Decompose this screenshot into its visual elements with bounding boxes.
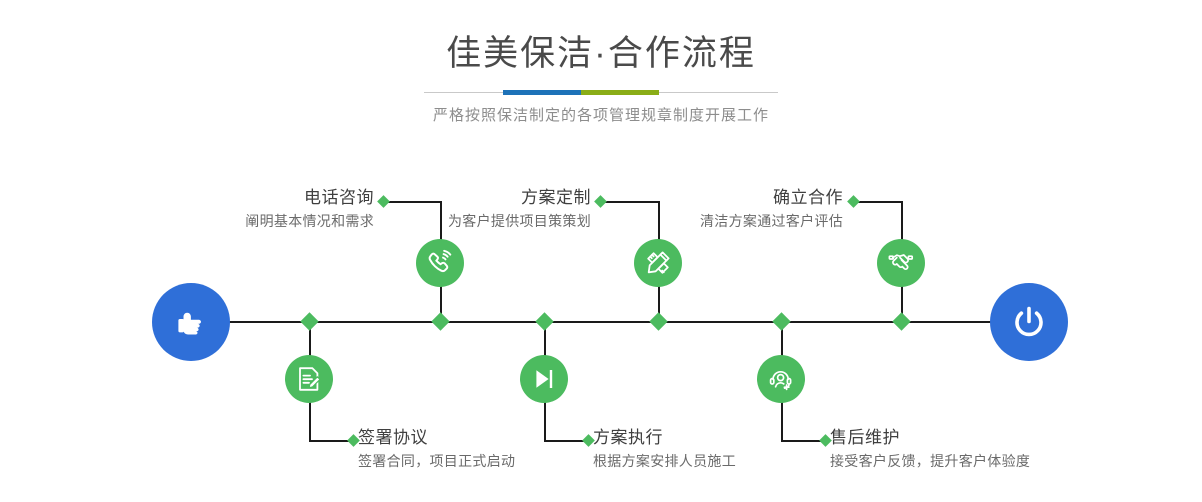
step-title-1: 电话咨询 [129, 186, 374, 210]
process-flow-infographic: 佳美保洁·合作流程 严格按照保洁制定的各项管理规章制度开展工作 [0, 0, 1202, 502]
step-icon-node-1[interactable] [416, 239, 464, 287]
step-label-5: 确立合作 清洁方案通过客户评估 [596, 186, 843, 232]
pencil-ruler-icon [644, 249, 672, 277]
document-edit-icon [295, 365, 323, 393]
step-desc-5: 清洁方案通过客户评估 [596, 210, 843, 232]
axis-marker-step-3 [649, 312, 667, 330]
timeline: 电话咨询 阐明基本情况和需求 签署协议 [0, 0, 1202, 502]
power-button-icon [1008, 301, 1050, 343]
step-desc-3: 为客户提供项目策策划 [345, 210, 591, 232]
pointing-hand-icon [171, 302, 211, 342]
step-desc-6: 接受客户反馈，提升客户体验度 [830, 450, 1130, 472]
step-icon-node-3[interactable] [634, 239, 682, 287]
timeline-end-node[interactable] [990, 283, 1068, 361]
timeline-start-node[interactable] [152, 283, 230, 361]
step-label-6: 售后维护 接受客户反馈，提升客户体验度 [830, 426, 1130, 472]
axis-marker-step-6 [772, 312, 790, 330]
step-label-3: 方案定制 为客户提供项目策策划 [345, 186, 591, 232]
label-marker-step-5 [847, 195, 860, 208]
step-title-3: 方案定制 [345, 186, 591, 210]
step-title-6: 售后维护 [830, 426, 1130, 450]
play-skip-icon [531, 366, 557, 392]
connector-horizontal-step-5 [853, 201, 902, 203]
step-icon-node-2[interactable] [285, 355, 333, 403]
step-icon-node-6[interactable] [757, 355, 805, 403]
step-icon-node-5[interactable] [877, 239, 925, 287]
axis-marker-step-1 [431, 312, 449, 330]
customer-service-add-icon [767, 365, 795, 393]
axis-marker-step-2 [300, 312, 318, 330]
handshake-icon [887, 249, 915, 277]
axis-marker-step-5 [892, 312, 910, 330]
step-icon-node-4[interactable] [520, 355, 568, 403]
phone-call-icon [426, 249, 454, 277]
step-title-5: 确立合作 [596, 186, 843, 210]
axis-marker-step-4 [535, 312, 553, 330]
step-desc-1: 阐明基本情况和需求 [129, 210, 374, 232]
step-label-1: 电话咨询 阐明基本情况和需求 [129, 186, 374, 232]
